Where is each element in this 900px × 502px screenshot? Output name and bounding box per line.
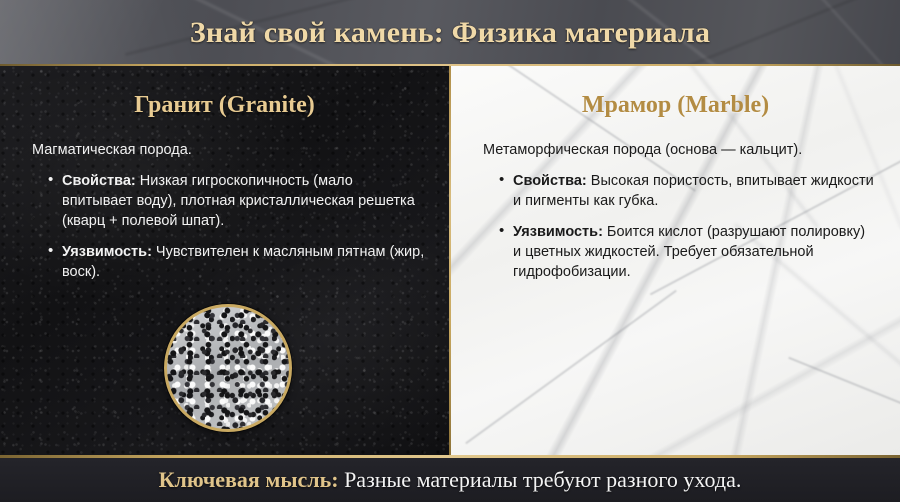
panel-divider: [449, 66, 451, 455]
list-item: Свойства: Низкая гигроскопичность (мало …: [50, 171, 425, 231]
fact-label: Свойства:: [513, 173, 587, 189]
panels-bottom-gold-rule: [0, 455, 900, 458]
slide-root: Знай свой камень: Физика материала Грани…: [0, 0, 900, 502]
list-item: Уязвимость: Чувствителен к масляным пятн…: [50, 242, 425, 282]
comparison-panels: Гранит (Granite) Магматическая порода. С…: [0, 66, 900, 455]
granite-sample-circle-icon: [164, 304, 292, 432]
list-item: Уязвимость: Боится кислот (разрушают пол…: [501, 222, 876, 282]
marble-vein-5: [465, 290, 677, 444]
panel-granite-intro: Магматическая порода.: [32, 141, 425, 161]
panel-marble-intro: Метаморфическая порода (основа — кальцит…: [483, 141, 876, 161]
key-takeaway: Ключевая мысль: Разные материалы требуют…: [159, 467, 742, 493]
slide-footer: Ключевая мысль: Разные материалы требуют…: [0, 458, 900, 502]
list-item: Свойства: Высокая пористость, впитывает …: [501, 171, 876, 211]
panel-marble-content: Мрамор (Marble) Метаморфическая порода (…: [451, 92, 900, 282]
fact-label: Уязвимость:: [513, 224, 603, 240]
page-title: Знай свой камень: Физика материала: [0, 16, 900, 50]
key-takeaway-label: Ключевая мысль:: [159, 467, 339, 492]
panel-marble: Мрамор (Marble) Метаморфическая порода (…: [451, 66, 900, 455]
panel-granite-heading: Гранит (Granite): [24, 92, 425, 119]
key-takeaway-statement: Разные материалы требуют разного ухода.: [339, 467, 742, 492]
fact-label: Свойства:: [62, 173, 136, 189]
panel-marble-heading: Мрамор (Marble): [475, 92, 876, 119]
panel-granite-facts: Свойства: Низкая гигроскопичность (мало …: [24, 171, 425, 282]
fact-label: Уязвимость:: [62, 244, 152, 260]
slide-header: Знай свой камень: Физика материала: [0, 0, 900, 66]
panel-granite-content: Гранит (Granite) Магматическая порода. С…: [0, 92, 449, 282]
panel-marble-facts: Свойства: Высокая пористость, впитывает …: [475, 171, 876, 282]
marble-vein-7: [788, 357, 900, 438]
header-gold-rule: [0, 64, 900, 66]
panel-granite: Гранит (Granite) Магматическая порода. С…: [0, 66, 449, 455]
